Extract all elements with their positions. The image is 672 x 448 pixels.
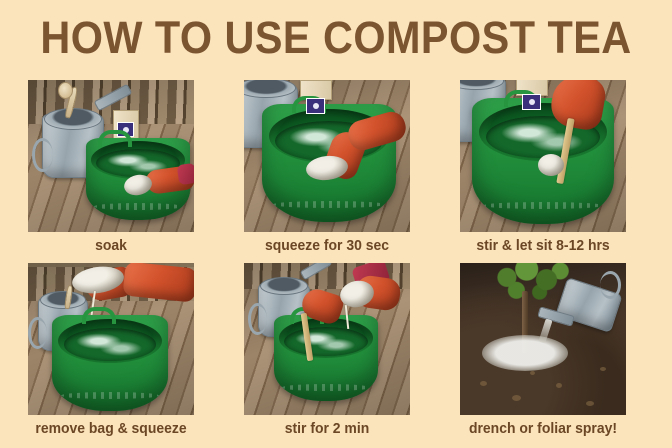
step-photo-1 [28, 80, 194, 232]
step-caption-3: stir & let sit 8-12 hrs [466, 236, 620, 255]
soil-texture [586, 401, 594, 406]
watering-can-handle [28, 317, 47, 349]
compost-tea-bag [538, 154, 564, 176]
step-card-4: remove bag & squeeze [28, 263, 194, 438]
step-caption-6: drench or foliar spray! [466, 419, 620, 438]
watering-can-handle [248, 303, 267, 335]
tub-rim-texture [282, 384, 369, 391]
green-tub [52, 315, 168, 411]
soil-texture [530, 371, 535, 375]
wooden-spoon-head [58, 82, 73, 99]
watering-can-rim [40, 291, 86, 309]
step-card-5: stir for 2 min [244, 263, 410, 438]
tub-handle [82, 307, 116, 324]
watering-can-rim [260, 277, 308, 295]
step-caption-4: remove bag & squeeze [34, 419, 188, 438]
step-caption-2: squeeze for 30 sec [250, 236, 404, 255]
tub-rim-texture [94, 203, 181, 210]
step-caption-5: stir for 2 min [250, 419, 404, 438]
step-photo-5 [244, 263, 410, 415]
compost-tea-infographic: HOW TO USE COMPOST TEA [0, 0, 672, 448]
watering-can-handle [600, 271, 621, 299]
green-tub [274, 315, 378, 401]
tub-water [64, 328, 157, 361]
tub-rim-texture [483, 202, 602, 209]
page-title: HOW TO USE COMPOST TEA [27, 12, 645, 64]
step-card-6: drench or foliar spray! [460, 263, 626, 438]
soil-texture [600, 367, 606, 371]
watering-can-rim [44, 108, 102, 130]
step-photo-6 [460, 263, 626, 415]
step-card-2: squeeze for 30 sec [244, 80, 410, 255]
sleeve [177, 163, 194, 185]
step-card-1: soak [28, 80, 194, 255]
step-caption-1: soak [34, 236, 188, 255]
water-puddle [482, 335, 568, 371]
soil-texture [556, 383, 562, 388]
compost-tea-box-label [522, 94, 541, 110]
step-photo-2 [244, 80, 410, 232]
step-card-3: stir & let sit 8-12 hrs [460, 80, 626, 255]
steps-grid: soak squeeze for 30 [28, 80, 644, 438]
step-photo-3 [460, 80, 626, 232]
tub-water [284, 327, 367, 356]
step-photo-4 [28, 263, 194, 415]
soil-texture [480, 381, 487, 386]
tub-rim-texture [273, 201, 386, 208]
watering-can-handle [32, 138, 53, 172]
compost-tea-box-label [306, 98, 325, 114]
tub-handle [98, 130, 132, 147]
tub-rim-texture [61, 392, 158, 399]
soil-texture [512, 395, 521, 401]
